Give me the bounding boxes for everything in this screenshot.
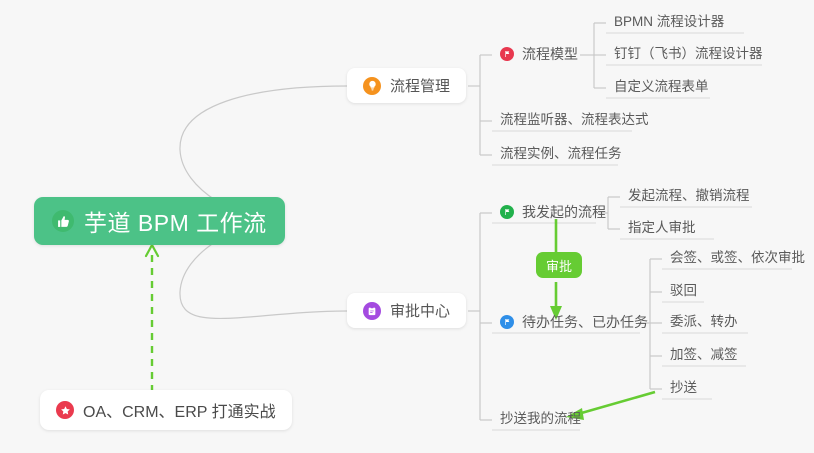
branch-label: 流程管理 xyxy=(390,75,450,96)
node-my-initiated-process[interactable]: 我发起的流程 xyxy=(492,201,614,225)
node-process-instance-task[interactable]: 流程实例、流程任务 xyxy=(492,143,630,167)
node-cc-to-me-process[interactable]: 抄送我的流程 xyxy=(492,408,589,432)
clipboard-icon xyxy=(363,302,381,320)
node-oa-crm-erp[interactable]: OA、CRM、ERP 打通实战 xyxy=(40,390,292,430)
node-label: 发起流程、撤销流程 xyxy=(628,189,750,203)
root-node[interactable]: 芋道 BPM 工作流 xyxy=(34,197,285,245)
approval-tag-label: 审批 xyxy=(546,256,572,275)
node-start-cancel-process[interactable]: 发起流程、撤销流程 xyxy=(620,185,758,209)
node-label: 流程监听器、流程表达式 xyxy=(500,113,649,127)
node-add-remove-sign[interactable]: 加签、减签 xyxy=(662,344,746,368)
node-reject[interactable]: 驳回 xyxy=(662,280,705,304)
node-label: 抄送我的流程 xyxy=(500,412,581,426)
branch-node-approval-center[interactable]: 审批中心 xyxy=(347,293,466,328)
flag-icon xyxy=(500,47,514,61)
node-process-model[interactable]: 流程模型 xyxy=(492,43,586,67)
node-custom-process-form[interactable]: 自定义流程表单 xyxy=(606,76,717,100)
node-label: 钉钉（飞书）流程设计器 xyxy=(614,47,763,61)
integration-dashed-arrow xyxy=(146,245,158,392)
branch-label: 审批中心 xyxy=(390,300,450,321)
root-label: 芋道 BPM 工作流 xyxy=(84,204,267,238)
node-dingtalk-feishu-designer[interactable]: 钉钉（飞书）流程设计器 xyxy=(606,43,771,67)
node-label: OA、CRM、ERP 打通实战 xyxy=(83,398,276,422)
flag-icon xyxy=(500,205,514,219)
node-label: 自定义流程表单 xyxy=(614,80,709,94)
node-label: 流程模型 xyxy=(522,47,578,61)
node-label: BPMN 流程设计器 xyxy=(614,15,724,29)
approval-tag[interactable]: 审批 xyxy=(536,252,582,278)
node-bpmn-designer[interactable]: BPMN 流程设计器 xyxy=(606,11,732,35)
node-label: 待办任务、已办任务 xyxy=(522,315,648,329)
node-label: 流程实例、流程任务 xyxy=(500,147,622,161)
node-carbon-copy[interactable]: 抄送 xyxy=(662,377,705,401)
node-label: 加签、减签 xyxy=(670,348,738,362)
mindmap-canvas: 芋道 BPM 工作流 流程管理 流程模型 BPMN 流程设计器 钉钉（飞书）流程… xyxy=(0,0,814,453)
node-label: 会签、或签、依次审批 xyxy=(670,251,805,265)
star-icon xyxy=(56,401,74,419)
branch-node-process-management[interactable]: 流程管理 xyxy=(347,68,466,103)
node-delegate-transfer[interactable]: 委派、转办 xyxy=(662,311,746,335)
node-assignee-approval[interactable]: 指定人审批 xyxy=(620,217,704,241)
flag-icon xyxy=(500,315,514,329)
node-label: 抄送 xyxy=(670,381,697,395)
node-label: 我发起的流程 xyxy=(522,205,606,219)
node-label: 驳回 xyxy=(670,284,697,298)
node-label: 指定人审批 xyxy=(628,221,696,235)
node-process-listener-expression[interactable]: 流程监听器、流程表达式 xyxy=(492,109,657,133)
lightbulb-icon xyxy=(363,77,381,95)
node-todo-done-task[interactable]: 待办任务、已办任务 xyxy=(492,311,656,335)
thumbs-up-icon xyxy=(52,210,74,232)
node-label: 委派、转办 xyxy=(670,315,738,329)
node-countersign-orsign-sequential[interactable]: 会签、或签、依次审批 xyxy=(662,247,813,271)
